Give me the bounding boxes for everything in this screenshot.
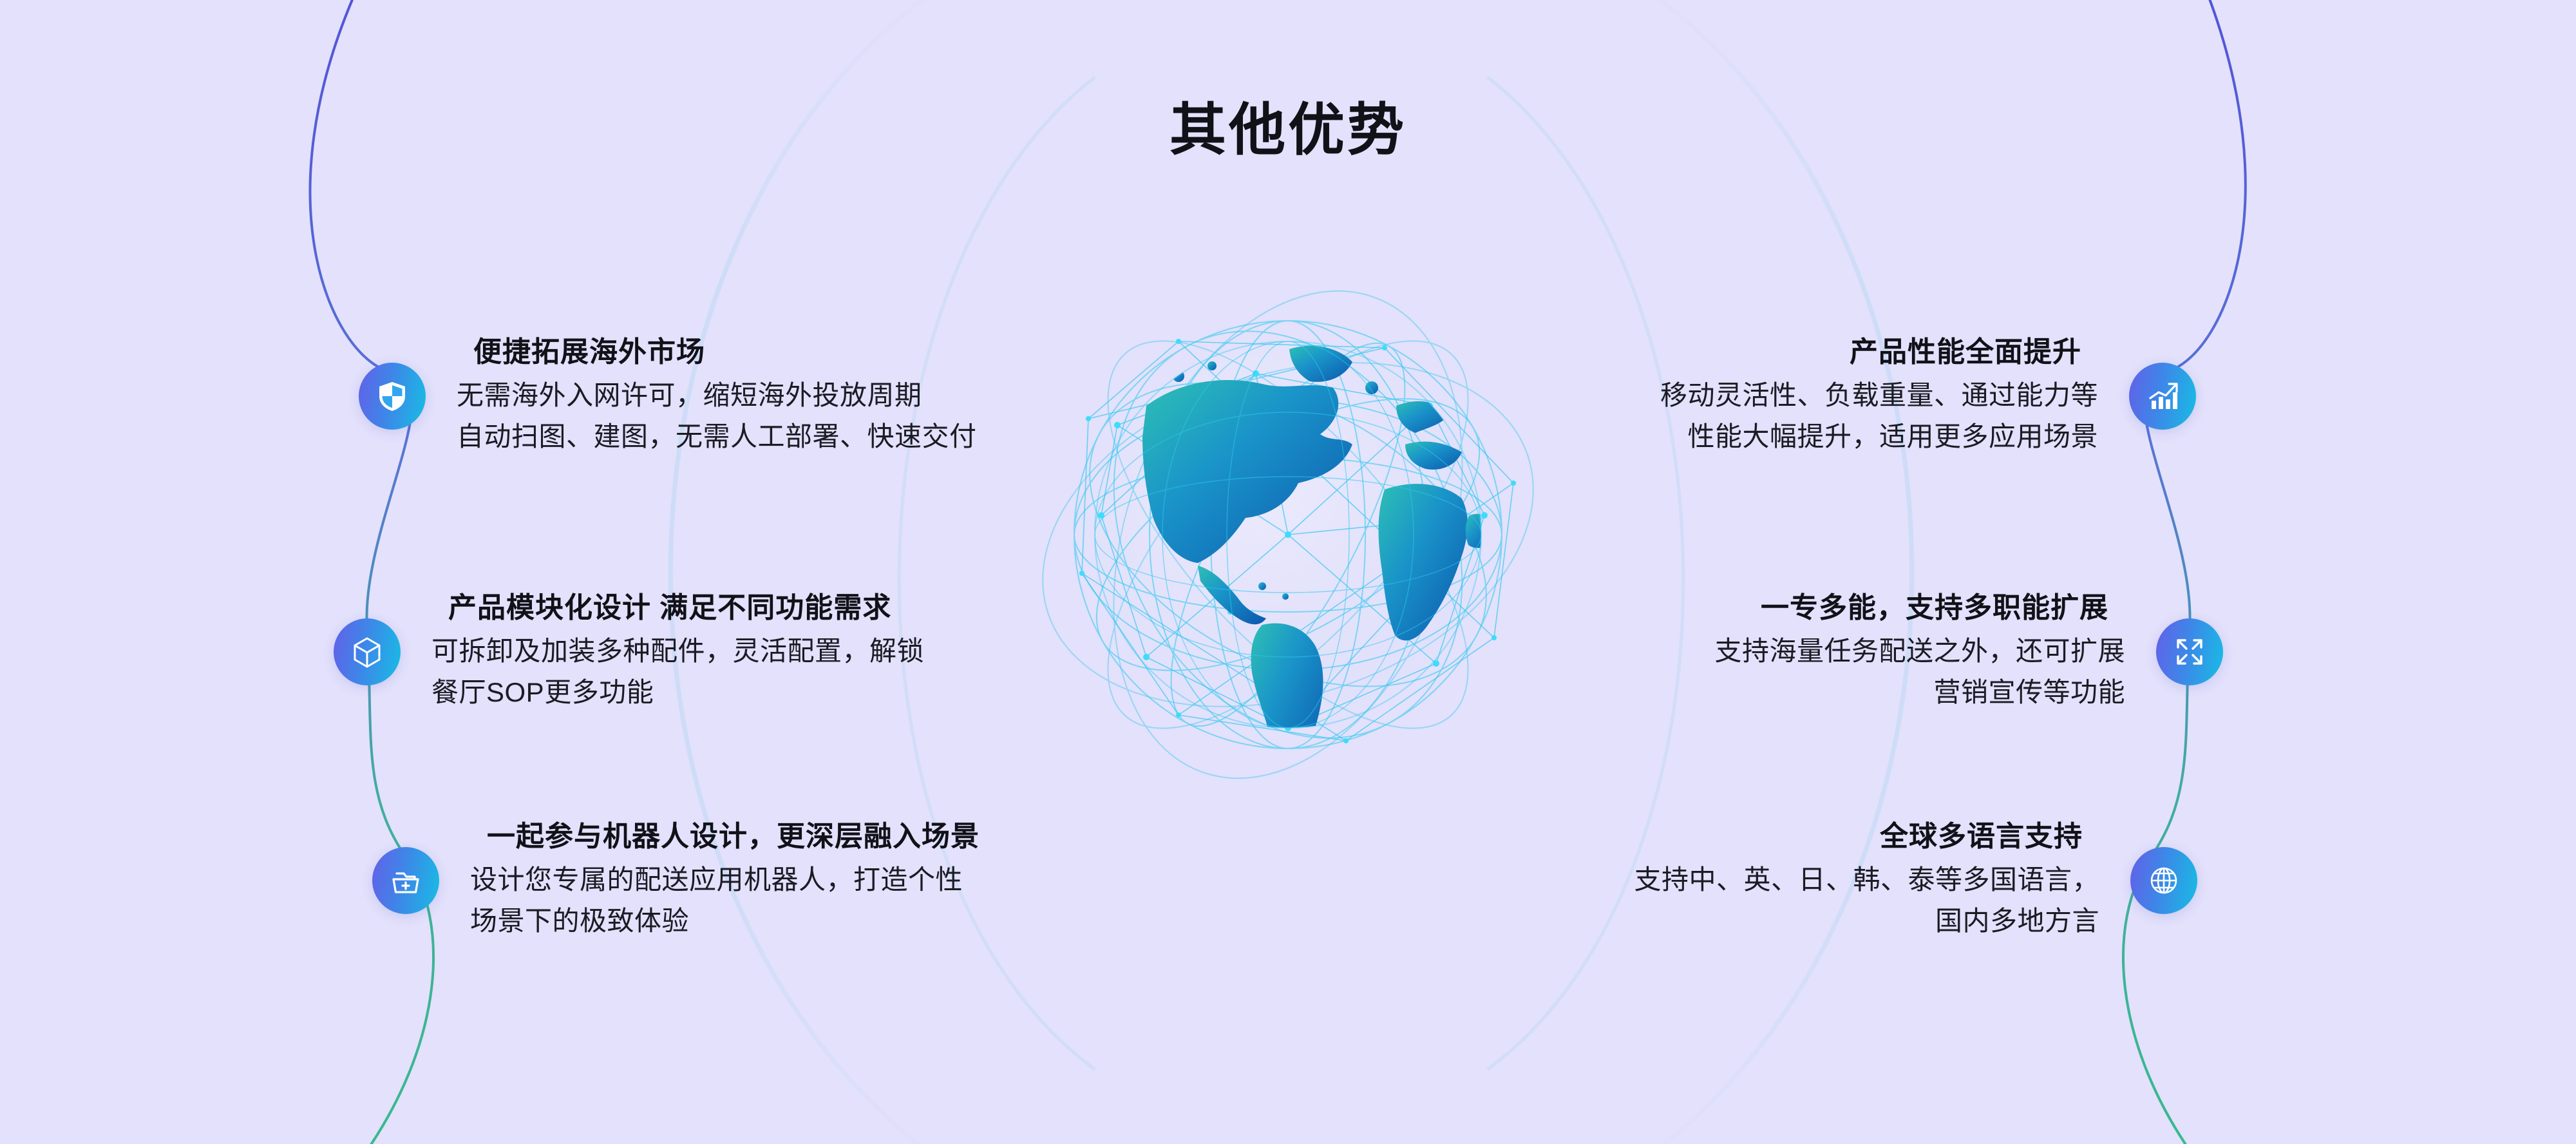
expand-arrows-icon xyxy=(2156,618,2223,685)
feature-line: 自动扫图、建图，无需人工部署、快速交付 xyxy=(457,416,977,457)
feature-line: 国内多地方言 xyxy=(1634,901,2099,942)
feature-title: 一专多能，支持多职能扩展 xyxy=(1761,591,2125,625)
page-title: 其他优势 xyxy=(0,102,2576,158)
feature-line: 营销宣传等功能 xyxy=(1714,672,2125,713)
feature-item-overseas-market[interactable]: 便捷拓展海外市场 无需海外入网许可，缩短海外投放周期 自动扫图、建图，无需人工部… xyxy=(359,335,977,457)
feature-line: 餐厅SOP更多功能 xyxy=(431,672,924,713)
feature-line: 性能大幅提升，适用更多应用场景 xyxy=(1660,416,2098,457)
feature-line: 支持海量任务配送之外，还可扩展 xyxy=(1714,631,2125,672)
feature-title: 便捷拓展海外市场 xyxy=(457,335,705,370)
feature-title: 一起参与机器人设计，更深层融入场景 xyxy=(470,819,980,854)
feature-item-multifunction-expansion[interactable]: 一专多能，支持多职能扩展 支持海量任务配送之外，还可扩展 营销宣传等功能 xyxy=(1714,591,2223,712)
feature-item-performance-upgrade[interactable]: 产品性能全面提升 移动灵活性、负载重量、通过能力等 性能大幅提升，适用更多应用场… xyxy=(1660,335,2196,457)
feature-title: 全球多语言支持 xyxy=(1880,819,2099,854)
feature-body: 移动灵活性、负载重量、通过能力等 性能大幅提升，适用更多应用场景 xyxy=(1660,375,2098,457)
feature-body: 支持海量任务配送之外，还可扩展 营销宣传等功能 xyxy=(1714,631,2125,713)
feature-title: 产品模块化设计 满足不同功能需求 xyxy=(431,591,891,625)
feature-item-robot-codesign[interactable]: 一起参与机器人设计，更深层融入场景 设计您专属的配送应用机器人，打造个性 场景下… xyxy=(372,819,980,941)
feature-item-modular-design[interactable]: 产品模块化设计 满足不同功能需求 可拆卸及加装多种配件，灵活配置，解锁 餐厅SO… xyxy=(334,591,924,712)
feature-line: 场景下的极致体验 xyxy=(470,901,963,942)
cube-icon xyxy=(334,618,401,685)
feature-body: 无需海外入网许可，缩短海外投放周期 自动扫图、建图，无需人工部署、快速交付 xyxy=(457,375,977,457)
feature-line: 支持中、英、日、韩、泰等多国语言， xyxy=(1634,859,2099,901)
feature-line: 移动灵活性、负载重量、通过能力等 xyxy=(1660,375,2098,416)
chart-up-icon xyxy=(2129,363,2196,430)
globe-grid-icon xyxy=(2130,847,2197,914)
feature-text-block: 一起参与机器人设计，更深层融入场景 设计您专属的配送应用机器人，打造个性 场景下… xyxy=(470,819,980,941)
infographic-canvas: 其他优势 xyxy=(0,0,2576,1144)
feature-line: 无需海外入网许可，缩短海外投放周期 xyxy=(457,375,977,416)
feature-text-block: 便捷拓展海外市场 无需海外入网许可，缩短海外投放周期 自动扫图、建图，无需人工部… xyxy=(457,335,977,457)
feature-item-multilanguage-support[interactable]: 全球多语言支持 支持中、英、日、韩、泰等多国语言， 国内多地方言 xyxy=(1634,819,2197,941)
feature-body: 可拆卸及加装多种配件，灵活配置，解锁 餐厅SOP更多功能 xyxy=(431,631,924,713)
feature-line: 可拆卸及加装多种配件，灵活配置，解锁 xyxy=(431,631,924,672)
folder-plus-icon xyxy=(372,847,439,914)
feature-title: 产品性能全面提升 xyxy=(1850,335,2098,370)
feature-body: 设计您专属的配送应用机器人，打造个性 场景下的极致体验 xyxy=(470,859,963,942)
feature-line: 设计您专属的配送应用机器人，打造个性 xyxy=(470,859,963,901)
feature-text-block: 一专多能，支持多职能扩展 支持海量任务配送之外，还可扩展 营销宣传等功能 xyxy=(1714,591,2125,712)
network-globe-illustration xyxy=(985,213,1591,921)
shield-icon xyxy=(359,363,426,430)
feature-text-block: 产品性能全面提升 移动灵活性、负载重量、通过能力等 性能大幅提升，适用更多应用场… xyxy=(1660,335,2098,457)
feature-text-block: 产品模块化设计 满足不同功能需求 可拆卸及加装多种配件，灵活配置，解锁 餐厅SO… xyxy=(431,591,924,712)
feature-text-block: 全球多语言支持 支持中、英、日、韩、泰等多国语言， 国内多地方言 xyxy=(1634,819,2099,941)
feature-body: 支持中、英、日、韩、泰等多国语言， 国内多地方言 xyxy=(1634,859,2099,942)
